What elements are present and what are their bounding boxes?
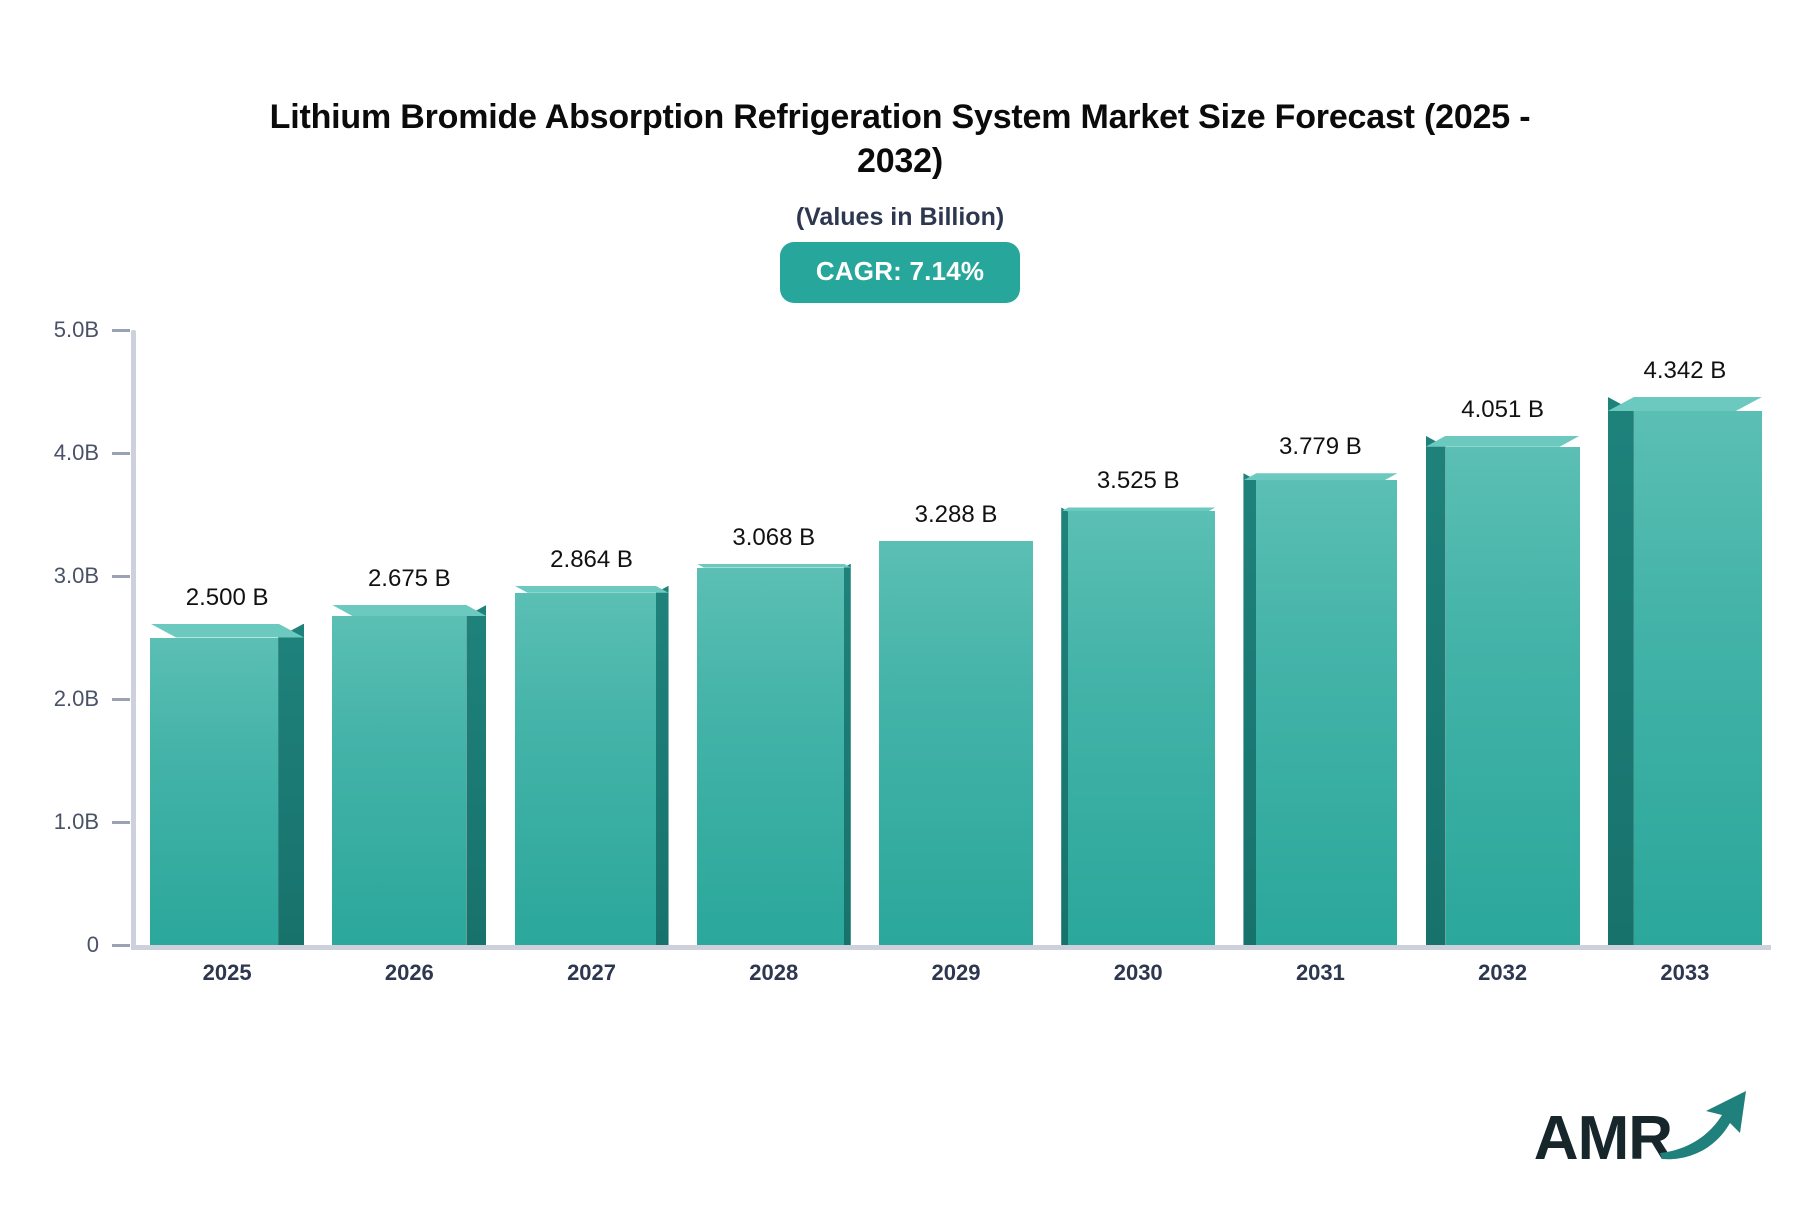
x-axis-tick-label: 2031 — [1229, 960, 1411, 986]
y-axis-tick-mark — [112, 452, 130, 455]
y-axis-tick: 4.0B — [0, 440, 130, 466]
x-axis-tick-label: 2026 — [318, 960, 500, 986]
bar-slot[interactable]: 2.675 B — [318, 330, 500, 945]
x-axis-tick-label: 2032 — [1412, 960, 1594, 986]
bar-side-face — [1061, 507, 1068, 945]
bar-2027[interactable] — [515, 586, 669, 945]
bar-front-face — [1256, 480, 1397, 945]
bar-front-face — [1634, 411, 1762, 945]
bar-top-face — [515, 586, 669, 593]
bar-side-face — [656, 586, 669, 945]
bar-side-face — [278, 624, 304, 946]
bar-top-face — [1608, 397, 1762, 411]
amr-logo: AMR — [1534, 1085, 1754, 1170]
x-axis-tick-labels: 202520262027202820292030203120322033 — [136, 960, 1776, 986]
y-axis-tick: 2.0B — [0, 686, 130, 712]
x-axis-tick-label: 2029 — [865, 960, 1047, 986]
bar-2031[interactable] — [1243, 473, 1397, 945]
y-axis-tick-label: 0 — [87, 932, 99, 958]
bar-side-face — [844, 564, 851, 945]
y-axis-tick-labels: 01.0B2.0B3.0B4.0B5.0B — [0, 330, 130, 950]
x-axis-tick-label: 2028 — [683, 960, 865, 986]
bar-top-face — [150, 624, 304, 638]
bar-2029[interactable] — [879, 541, 1033, 945]
bar-side-face — [1426, 436, 1446, 945]
bar-2025[interactable] — [150, 624, 304, 946]
bar-slot[interactable]: 2.500 B — [136, 330, 318, 945]
y-axis-tick-mark — [112, 698, 130, 701]
x-axis-line — [131, 945, 1771, 950]
page-title: Lithium Bromide Absorption Refrigeration… — [215, 96, 1585, 183]
bar-front-face — [150, 638, 278, 946]
y-axis-tick-mark — [112, 821, 130, 824]
y-axis-tick-label: 3.0B — [54, 563, 99, 589]
bar-series: 2.500 B2.675 B2.864 B3.068 B3.288 B3.525… — [136, 330, 1776, 945]
y-axis-tick-label: 5.0B — [54, 317, 99, 343]
bar-2032[interactable] — [1426, 436, 1580, 945]
y-axis-tick: 0 — [0, 932, 130, 958]
x-axis-tick-label: 2030 — [1047, 960, 1229, 986]
bar-slot[interactable]: 4.342 B — [1594, 330, 1776, 945]
bar-top-face — [697, 564, 851, 568]
y-axis-tick: 1.0B — [0, 809, 130, 835]
bar-slot[interactable]: 4.051 B — [1412, 330, 1594, 945]
bar-side-face — [466, 605, 486, 945]
bar-top-face — [332, 605, 486, 616]
bar-2028[interactable] — [697, 564, 851, 945]
chart-plot-area: 01.0B2.0B3.0B4.0B5.0B 2.500 B2.675 B2.86… — [0, 330, 1800, 950]
bar-front-face — [879, 541, 1033, 945]
chart-subtitle: (Values in Billion) — [0, 203, 1800, 232]
bar-top-face — [1061, 507, 1215, 511]
bar-slot[interactable]: 3.525 B — [1047, 330, 1229, 945]
bar-front-face — [515, 593, 656, 945]
bar-front-face — [1068, 511, 1215, 945]
y-axis-tick-mark — [112, 329, 130, 332]
y-axis-tick-label: 2.0B — [54, 686, 99, 712]
y-axis-tick-mark — [112, 944, 130, 947]
y-axis-tick-label: 1.0B — [54, 809, 99, 835]
bar-front-face — [697, 568, 844, 945]
y-axis-tick-mark — [112, 575, 130, 578]
x-axis-tick-label: 2025 — [136, 960, 318, 986]
bar-2030[interactable] — [1061, 507, 1215, 945]
chart-header: Lithium Bromide Absorption Refrigeration… — [0, 0, 1800, 303]
bar-top-face — [1426, 436, 1580, 447]
y-axis-tick: 5.0B — [0, 317, 130, 343]
bar-side-face — [1608, 397, 1634, 945]
bar-slot[interactable]: 3.288 B — [865, 330, 1047, 945]
bar-top-face — [1243, 473, 1397, 480]
bar-value-label: 4.342 B — [1555, 357, 1800, 385]
y-axis-tick-label: 4.0B — [54, 440, 99, 466]
logo-wordmark: AMR — [1534, 1108, 1672, 1170]
bar-2026[interactable] — [332, 605, 486, 945]
bar-front-face — [1446, 447, 1580, 945]
cagr-badge: CAGR: 7.14% — [780, 242, 1020, 303]
bar-2033[interactable] — [1608, 397, 1762, 945]
x-axis-tick-label: 2027 — [500, 960, 682, 986]
bar-side-face — [1243, 473, 1256, 945]
x-axis-tick-label: 2033 — [1594, 960, 1776, 986]
cagr-badge-container: CAGR: 7.14% — [0, 242, 1800, 303]
bar-slot[interactable]: 2.864 B — [500, 330, 682, 945]
growth-arrow-icon — [1658, 1085, 1754, 1166]
bar-slot[interactable]: 3.068 B — [683, 330, 865, 945]
bar-front-face — [332, 616, 466, 945]
